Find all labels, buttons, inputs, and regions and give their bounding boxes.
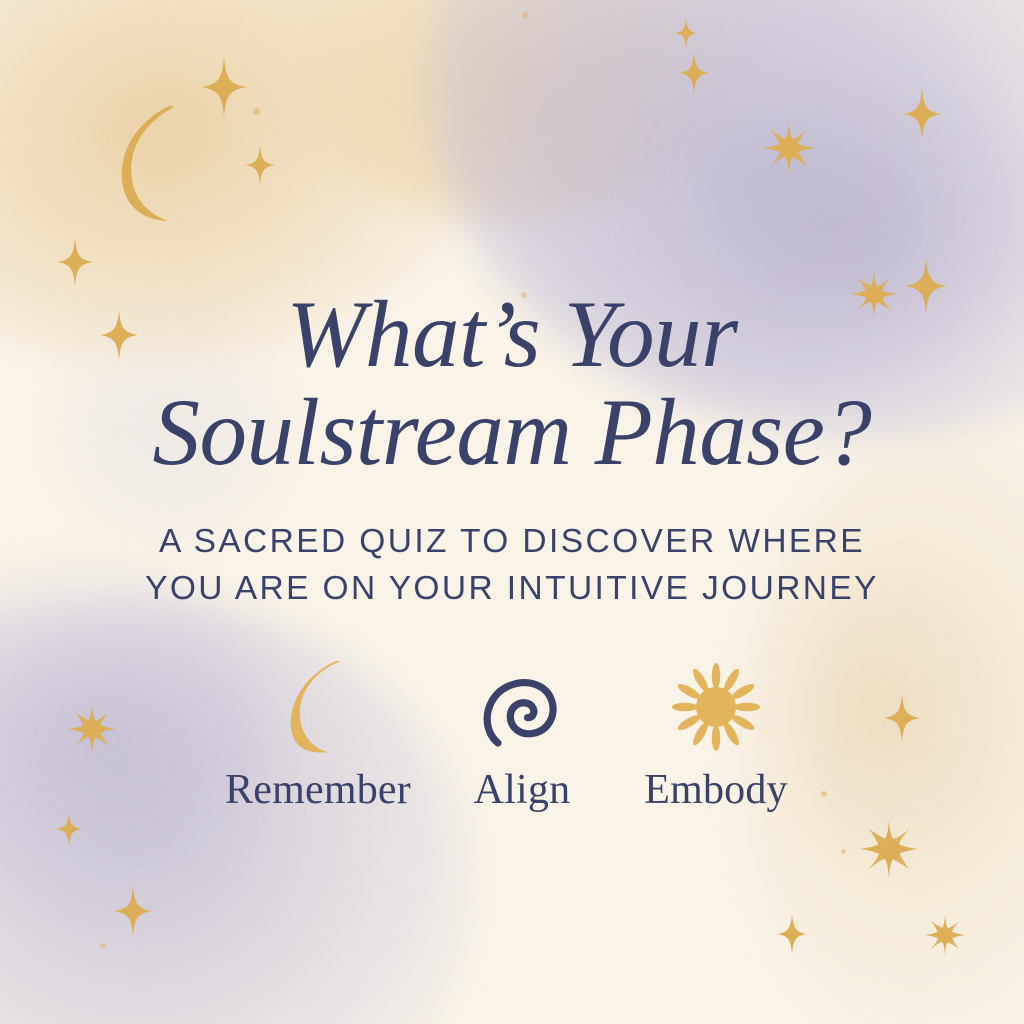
title-line-1: What’s Your — [286, 281, 737, 387]
phase-list: Remember Align — [202, 660, 822, 811]
subtitle-line-1: A SACRED QUIZ TO DISCOVER WHERE — [145, 518, 879, 566]
phase-item-embody: Embody — [610, 660, 822, 811]
phase-item-align: Align — [434, 660, 610, 811]
subtitle-line-2: YOU ARE ON YOUR INTUITIVE JOURNEY — [145, 565, 879, 613]
phase-label: Remember — [225, 769, 411, 811]
page-title: What’s Your Soulstream Phase? — [153, 286, 872, 482]
crescent-moon-icon — [277, 660, 359, 755]
spiral-icon — [482, 660, 562, 755]
poster-canvas: What’s Your Soulstream Phase? A SACRED Q… — [0, 0, 1024, 1024]
title-line-2: Soulstream Phase? — [153, 384, 872, 482]
poster-content: What’s Your Soulstream Phase? A SACRED Q… — [0, 0, 1024, 1024]
phase-label: Embody — [644, 769, 788, 811]
page-subtitle: A SACRED QUIZ TO DISCOVER WHERE YOU ARE … — [145, 518, 879, 613]
phase-item-remember: Remember — [202, 660, 434, 811]
sun-icon — [670, 660, 762, 755]
phase-label: Align — [474, 769, 571, 811]
